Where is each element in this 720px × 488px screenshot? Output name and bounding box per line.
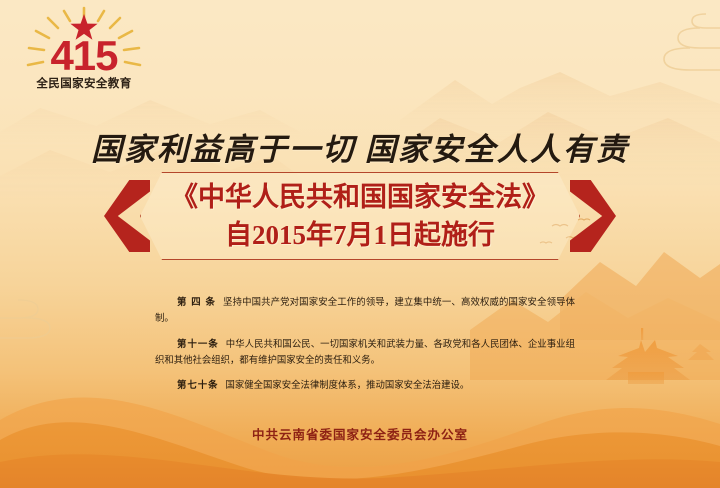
415-logo: 415 全民国家安全教育 <box>14 6 154 98</box>
article-item: 第十一条中华人民共和国公民、一切国家机关和武装力量、各政党和各人民团体、企业事业… <box>155 336 575 368</box>
article-item: 第 四 条坚持中国共产党对国家安全工作的领导，建立集中统一、高效权威的国家安全领… <box>155 294 575 326</box>
article-number: 第十一条 <box>177 338 226 349</box>
banner-text-block: 《中华人民共和国国家安全法》 自2015年7月1日起施行 <box>144 178 576 254</box>
article-number: 第 四 条 <box>177 296 223 307</box>
page-headline: 国家利益高于一切 国家安全人人有责 <box>0 124 720 169</box>
svg-text:415: 415 <box>50 32 118 79</box>
svg-text:全民国家安全教育: 全民国家安全教育 <box>35 76 131 90</box>
banner-effective-date: 自2015年7月1日起施行 <box>144 216 576 254</box>
law-banner: 《中华人民共和国国家安全法》 自2015年7月1日起施行 <box>104 172 616 260</box>
poster-canvas: 415 全民国家安全教育 国家利益高于一切 国家安全人人有责 《中华人民共和国国… <box>0 0 720 488</box>
article-list: 第 四 条坚持中国共产党对国家安全工作的领导，建立集中统一、高效权威的国家安全领… <box>155 285 575 400</box>
article-number: 第七十条 <box>177 379 226 390</box>
article-item: 第七十条国家健全国家安全法律制度体系，推动国家安全法治建设。 <box>155 377 575 393</box>
auspicious-cloud-motif-left <box>0 300 50 338</box>
logo-subtitle-text: 全民国家安全教育 <box>35 76 131 90</box>
small-pavilion-silhouette <box>688 344 714 360</box>
chinese-pagoda-silhouette <box>606 328 690 384</box>
article-text: 国家健全国家安全法律制度体系，推动国家安全法治建设。 <box>226 379 470 390</box>
auspicious-cloud-motif <box>664 14 720 70</box>
issuer-footer: 中共云南省委国家安全委员会办公室 <box>0 424 720 443</box>
banner-law-title: 《中华人民共和国国家安全法》 <box>144 178 576 216</box>
logo-number-415: 415 <box>50 32 118 79</box>
